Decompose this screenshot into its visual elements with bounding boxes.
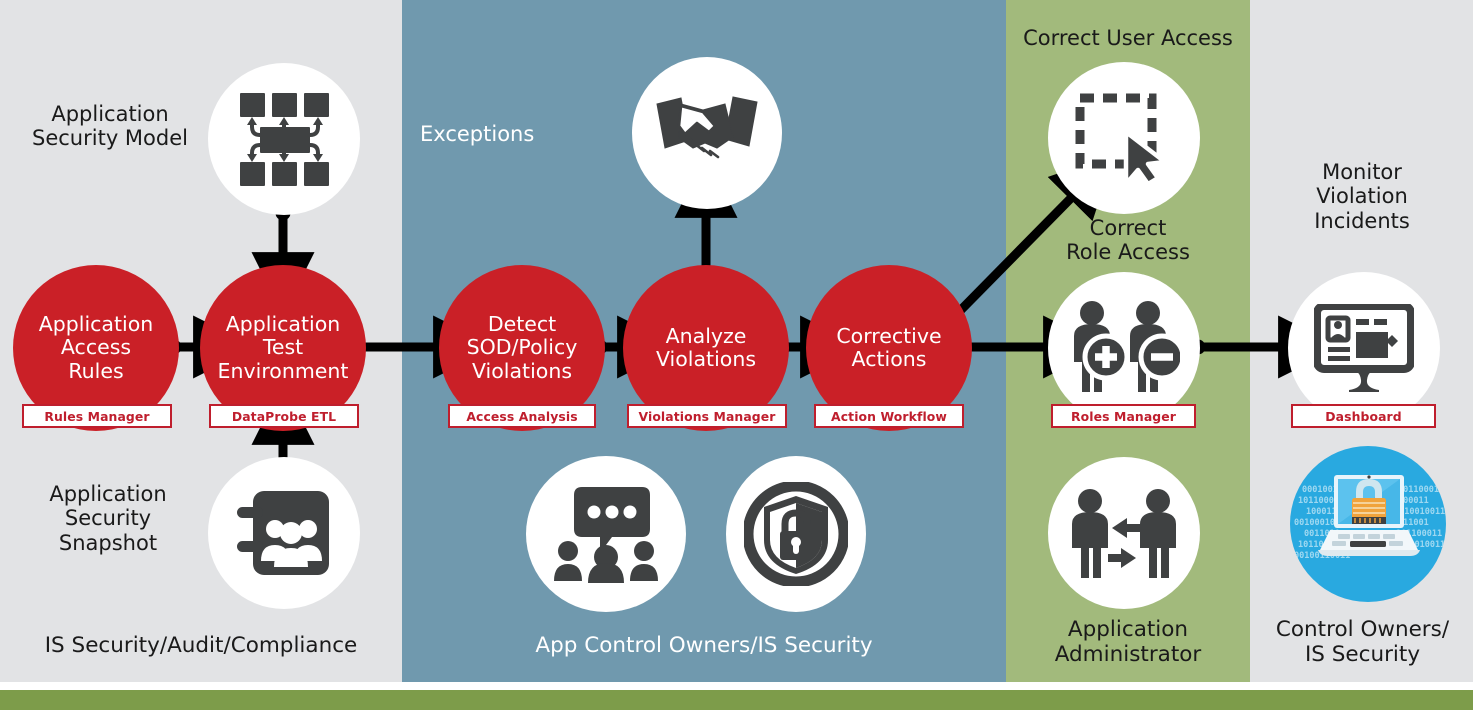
- selection-cursor-icon: [1074, 92, 1174, 184]
- process-label: Corrective Actions: [836, 325, 941, 371]
- tag-dataprobe-etl[interactable]: DataProbe ETL: [209, 404, 359, 428]
- svg-text:100011: 100011: [1306, 507, 1337, 517]
- user-exchange-icon: [1070, 488, 1178, 578]
- lane-label-is-security-audit-compliance: IS Security/Audit/Compliance: [10, 634, 392, 659]
- correct-role-access-circle[interactable]: [1048, 272, 1200, 424]
- tag-violations-manager[interactable]: Violations Manager: [627, 404, 787, 428]
- lane-label-application-administrator: Application Administrator: [1020, 618, 1236, 668]
- lane-label-control-owners-is-security: Control Owners/ IS Security: [1260, 618, 1465, 668]
- application-security-model-circle[interactable]: [208, 63, 360, 215]
- application-security-model-caption: Application Security Model: [30, 102, 190, 151]
- tag-roles-manager[interactable]: Roles Manager: [1051, 404, 1196, 428]
- application-security-snapshot-caption: Application Security Snapshot: [28, 482, 188, 555]
- exceptions-circle[interactable]: [632, 57, 782, 209]
- application-security-snapshot-circle[interactable]: [208, 457, 360, 609]
- monitor-violation-incidents-circle[interactable]: [1288, 272, 1440, 424]
- discussion-group-circle: [526, 456, 686, 612]
- users-add-remove-icon: [1068, 300, 1180, 396]
- monitor-violation-incidents-caption: Monitor Violation Incidents: [1272, 160, 1452, 233]
- bottom-accent-bar: [0, 690, 1473, 710]
- dashboard-monitor-icon: [1314, 304, 1414, 392]
- diagram-canvas: Application Security Model Exceptions Co…: [0, 0, 1473, 710]
- tag-action-workflow[interactable]: Action Workflow: [814, 404, 964, 428]
- discussion-group-icon: [554, 485, 658, 583]
- handshake-icon: [655, 96, 759, 170]
- process-label: Application Access Rules: [39, 313, 154, 382]
- tag-dashboard[interactable]: Dashboard: [1291, 404, 1436, 428]
- tag-rules-manager[interactable]: Rules Manager: [22, 404, 172, 428]
- exceptions-caption-text: Exceptions: [420, 122, 620, 146]
- network-nodes-icon: [232, 89, 336, 189]
- shield-lock-icon: [744, 482, 848, 586]
- correct-user-access-circle[interactable]: [1048, 62, 1200, 214]
- process-label: Application Test Environment: [218, 313, 349, 382]
- laptop-security-icon: 00010011 101100011 100011 00100010011 00…: [1290, 446, 1446, 602]
- contacts-book-icon: [235, 489, 333, 577]
- process-label: Detect SOD/Policy Violations: [467, 313, 578, 382]
- lane-label-app-control-owners-is-security: App Control Owners/IS Security: [412, 634, 996, 659]
- laptop-security-circle: 00010011 101100011 100011 00100010011 00…: [1290, 446, 1446, 602]
- shield-lock-circle: [726, 456, 866, 612]
- correct-role-access-caption: Correct Role Access: [1028, 216, 1228, 265]
- user-exchange-circle: [1048, 457, 1200, 609]
- correct-user-access-caption: Correct User Access: [1008, 26, 1248, 50]
- tag-access-analysis[interactable]: Access Analysis: [448, 404, 596, 428]
- process-label: Analyze Violations: [656, 325, 756, 371]
